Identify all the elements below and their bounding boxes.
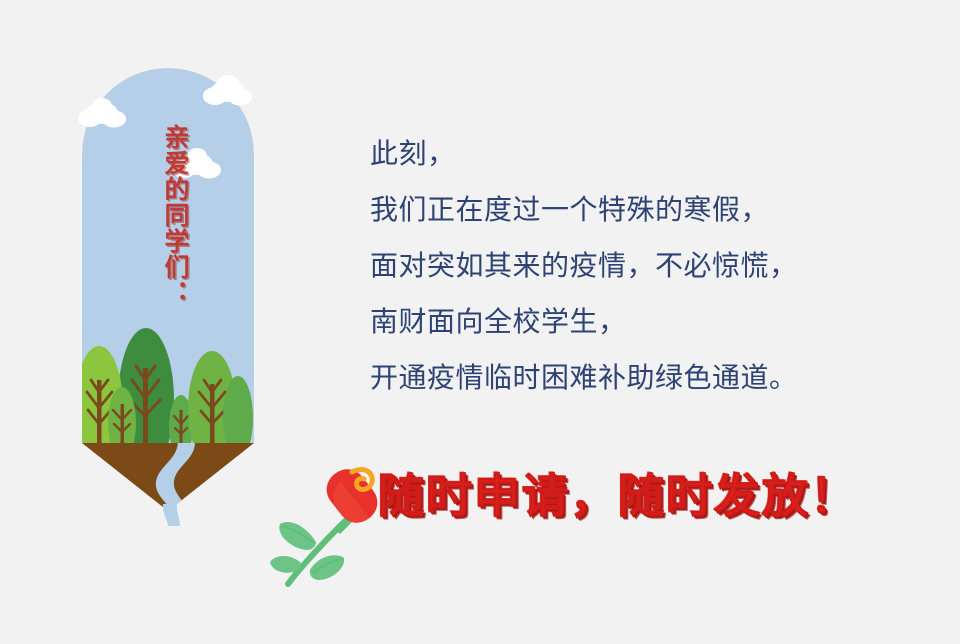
body-copy-line: 南财面向全校学生， <box>370 294 930 350</box>
banner-river-tail <box>163 504 180 526</box>
rose-leaf <box>270 556 301 573</box>
body-copy-line: 此刻， <box>370 126 930 182</box>
body-copy-line: 开通疫情临时困难补助绿色通道。 <box>370 350 930 406</box>
rose-flower-illustration <box>266 452 386 602</box>
headline-slogan: 随时申请，随时发放！ <box>378 473 858 519</box>
poster-canvas: 亲爱的同学们： 此刻， 我们正在度过一个特殊的寒假， 面对突如其来的疫情，不必惊… <box>0 0 960 644</box>
salutation-vertical-text: 亲爱的同学们： <box>148 124 188 306</box>
body-copy-line: 面对突如其来的疫情，不必惊慌， <box>370 238 930 294</box>
body-copy-line: 我们正在度过一个特殊的寒假， <box>370 182 930 238</box>
body-copy-block: 此刻， 我们正在度过一个特殊的寒假， 面对突如其来的疫情，不必惊慌， 南财面向全… <box>370 126 930 406</box>
